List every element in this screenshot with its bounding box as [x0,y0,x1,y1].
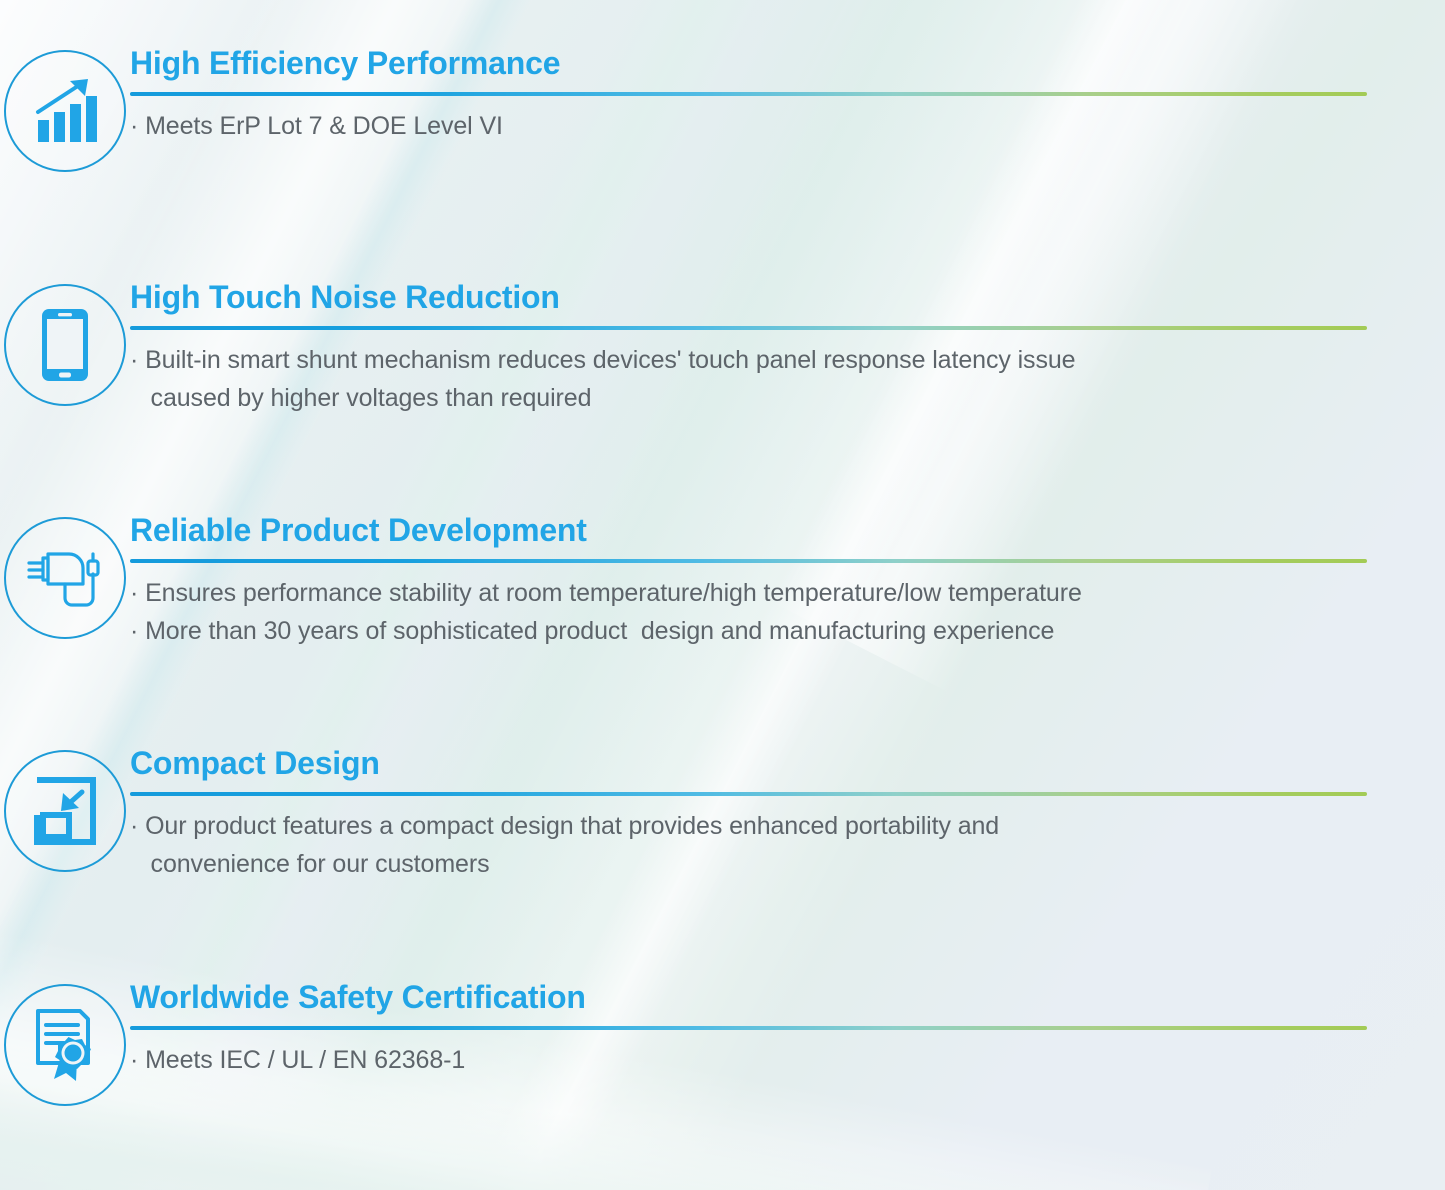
icon-container [0,513,130,639]
feature-row-reliable-product-development: Reliable Product Development · Ensures p… [0,513,1445,650]
feature-content: High Touch Noise Reduction · Built-in sm… [130,280,1445,417]
feature-title: Worldwide Safety Certification [130,980,1367,1015]
icon-container [0,746,130,872]
feature-divider [130,1026,1367,1030]
feature-divider [130,92,1367,96]
feature-row-worldwide-safety-certification: Worldwide Safety Certification · Meets I… [0,980,1445,1106]
feature-title: Compact Design [130,746,1367,781]
feature-divider [130,326,1367,330]
icon-circle [4,517,126,639]
feature-title: High Touch Noise Reduction [130,280,1367,315]
power-adapter-icon [24,542,106,614]
feature-bullets: · Built-in smart shunt mechanism reduces… [130,341,1367,417]
feature-bullets: · Our product features a compact design … [130,807,1367,883]
feature-divider [130,792,1367,796]
feature-row-high-touch-noise-reduction: High Touch Noise Reduction · Built-in sm… [0,280,1445,417]
icon-circle [4,984,126,1106]
icon-circle [4,750,126,872]
feature-bullets: · Ensures performance stability at room … [130,574,1367,650]
certificate-seal-icon [30,1007,100,1083]
feature-title: High Efficiency Performance [130,46,1367,81]
feature-content: Worldwide Safety Certification · Meets I… [130,980,1445,1079]
compact-resize-icon [32,775,98,847]
icon-container [0,980,130,1106]
feature-content: High Efficiency Performance · Meets ErP … [130,46,1445,145]
feature-row-high-efficiency-performance: High Efficiency Performance · Meets ErP … [0,46,1445,172]
icon-container [0,46,130,172]
bullet-item: · Our product features a compact design … [130,807,1367,883]
feature-divider [130,559,1367,563]
feature-highlights-page: High Efficiency Performance · Meets ErP … [0,0,1445,1190]
bar-chart-growth-icon [28,74,102,148]
feature-content: Compact Design · Our product features a … [130,746,1445,883]
feature-bullets: · Meets IEC / UL / EN 62368-1 [130,1041,1367,1079]
feature-title: Reliable Product Development [130,513,1367,548]
bullet-item: · Meets ErP Lot 7 & DOE Level VI [130,107,1367,145]
feature-content: Reliable Product Development · Ensures p… [130,513,1445,650]
smartphone-icon [40,307,90,383]
icon-container [0,280,130,406]
bullet-item: · Meets IEC / UL / EN 62368-1 [130,1041,1367,1079]
bullet-item: · More than 30 years of sophisticated pr… [130,612,1367,650]
icon-circle [4,50,126,172]
bullet-item: · Ensures performance stability at room … [130,574,1367,612]
feature-bullets: · Meets ErP Lot 7 & DOE Level VI [130,107,1367,145]
icon-circle [4,284,126,406]
feature-row-compact-design: Compact Design · Our product features a … [0,746,1445,883]
bullet-item: · Built-in smart shunt mechanism reduces… [130,341,1367,417]
